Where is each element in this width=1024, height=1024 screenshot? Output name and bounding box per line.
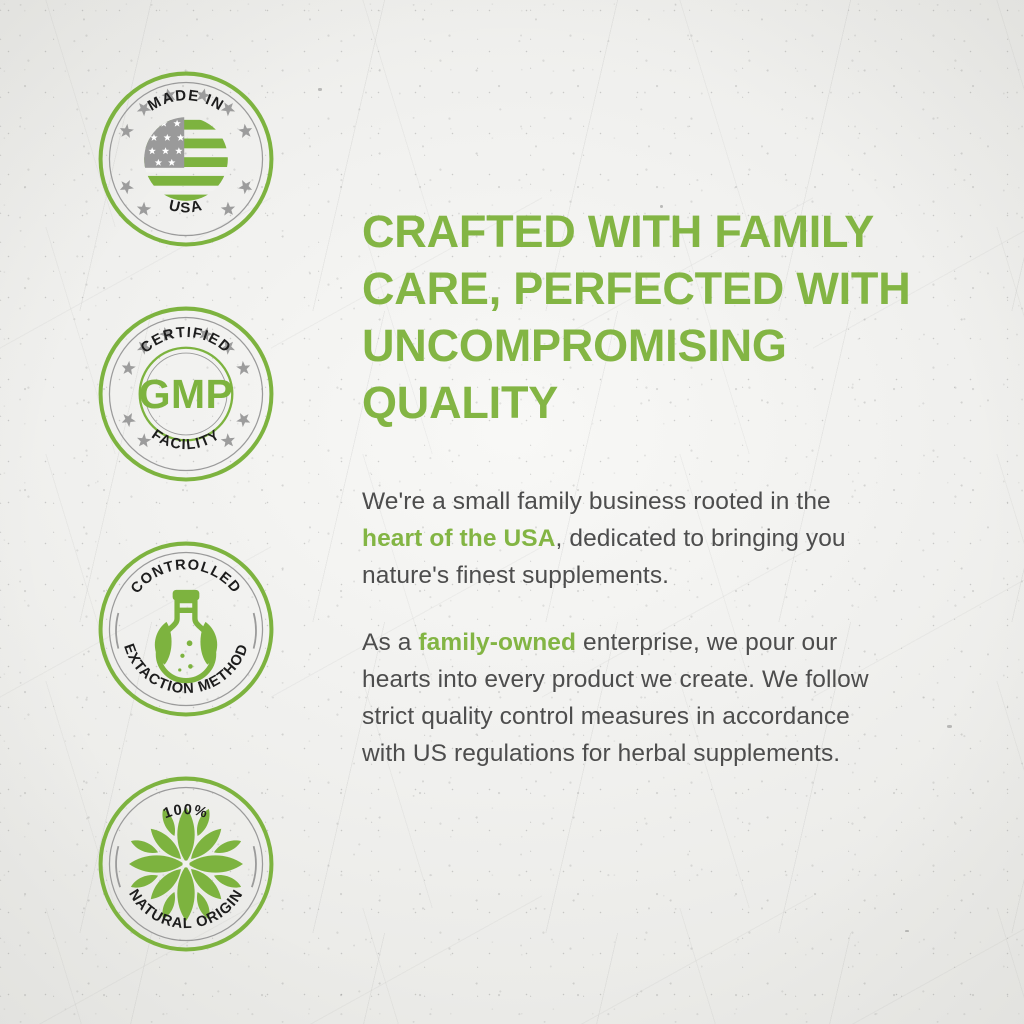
- body-copy: We're a small family business rooted in …: [362, 483, 882, 772]
- flask-leaf-icon: [155, 590, 217, 681]
- paragraph-2-highlight: family-owned: [418, 629, 576, 656]
- badge-controlled-extraction-method: CONTROLLED EXTACTION METHOD: [97, 540, 275, 718]
- headline: CRAFTED WITH FAMILY CARE, PERFECTED WITH…: [362, 203, 917, 431]
- paragraph-2: As a family-owned enterprise, we pour ou…: [362, 624, 882, 772]
- badge-center-label: GMP: [139, 371, 234, 417]
- badge-gmp-certified-facility: GMP CERTIFIED FACILITY: [97, 305, 275, 483]
- badge-top-label: MADE IN: [145, 87, 227, 115]
- badge-made-in-usa: MADE IN USA: [97, 70, 275, 248]
- badge-top-label: CERTIFIED: [138, 325, 234, 357]
- trust-badge-rail: MADE IN USA: [97, 70, 285, 953]
- badge-bottom-label: EXTACTION METHOD: [120, 642, 252, 698]
- usa-flag-circle-icon: [142, 115, 231, 205]
- badge-bottom-label: FACILITY: [149, 427, 224, 454]
- paragraph-2-segment-1: As a: [362, 629, 418, 656]
- paragraph-1: We're a small family business rooted in …: [362, 483, 882, 594]
- badge-bottom-label: USA: [167, 197, 204, 216]
- promo-graphic-page: MADE IN USA: [0, 0, 1024, 1024]
- paragraph-1-segment-1: We're a small family business rooted in …: [362, 488, 831, 515]
- paragraph-1-highlight: heart of the USA: [362, 525, 556, 552]
- copy-column: CRAFTED WITH FAMILY CARE, PERFECTED WITH…: [362, 203, 922, 772]
- badge-natural-origin: 100% NATURAL ORIGIN: [97, 775, 275, 953]
